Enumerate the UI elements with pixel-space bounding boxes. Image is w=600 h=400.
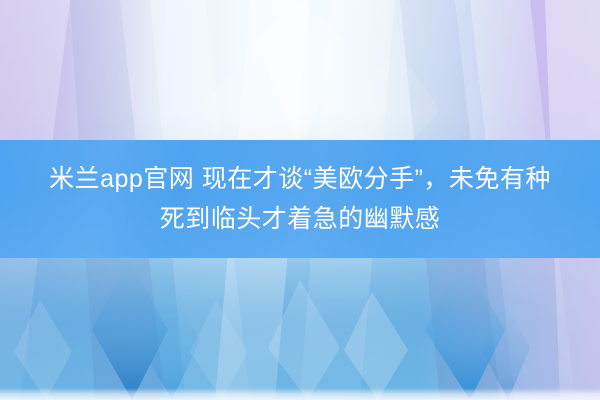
banner-canvas: 米兰app官网 现在才谈“美欧分手”，未免有种 死到临头才着急的幽默感 <box>0 0 600 400</box>
headline-line-1: 米兰app官网 现在才谈“美欧分手”，未免有种 <box>49 159 551 199</box>
headline-banner-band: 米兰app官网 现在才谈“美欧分手”，未免有种 死到临头才着急的幽默感 <box>0 140 600 258</box>
bottom-fade-strip <box>0 388 600 400</box>
headline-line-2: 死到临头才着急的幽默感 <box>160 199 441 239</box>
